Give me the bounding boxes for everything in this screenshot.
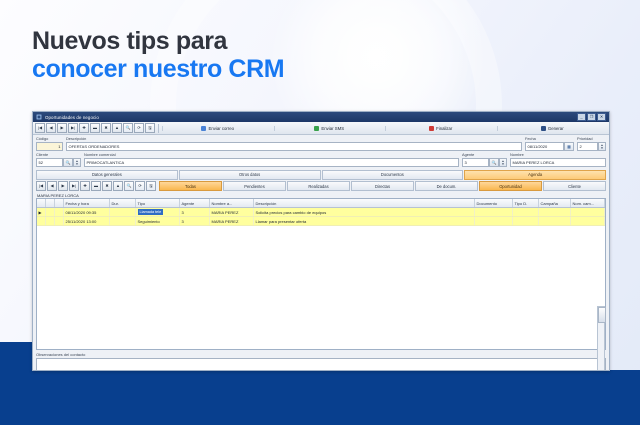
row-documento	[475, 208, 513, 216]
headline-line-1: Nuevos tips para	[32, 27, 284, 55]
agenda-refresh-icon[interactable]: ⟳	[135, 181, 145, 191]
bottom-blue-band	[0, 370, 640, 425]
subtab-pendientes[interactable]: Pendientes	[223, 181, 286, 191]
finish-icon	[429, 126, 434, 131]
grid-col-fecha-y-hora[interactable]: Fecha y hora	[64, 199, 110, 207]
grid-col-dur[interactable]: Dur.	[110, 199, 136, 207]
observaciones-section: Observaciones del contacto	[36, 352, 606, 371]
nav-last-button[interactable]: ▶|	[68, 123, 78, 133]
finalizar-label: Finalizar	[436, 126, 452, 131]
grid-col-flag1[interactable]	[46, 199, 55, 207]
mail-icon	[201, 126, 206, 131]
enviar-correo-label: Enviar correo	[208, 126, 234, 131]
row-tipo-d	[513, 217, 539, 225]
close-button[interactable]: ✕	[597, 113, 606, 121]
field-cliente: Cliente 52 🔍 ▲▼	[36, 153, 81, 167]
main-tab-bar: Datos generales Otros datos Documentos A…	[33, 170, 609, 180]
decorative-corner-block	[0, 342, 34, 372]
nav-next-button[interactable]: ▶	[57, 123, 67, 133]
agenda-grid[interactable]: Fecha y hora Dur. Tipo Agente Nombre a..…	[36, 198, 606, 350]
generate-icon	[541, 126, 546, 131]
grid-col-flag2[interactable]	[55, 199, 64, 207]
agenda-post-button[interactable]: ▲	[113, 181, 123, 191]
agenda-toolbar: |◀ ◀ ▶ ▶| ✚ ▬ ✖ ▲ 🔍 ⟳ 🖫 Todas Pendientes…	[33, 180, 609, 193]
post-record-button[interactable]: ▲	[112, 123, 122, 133]
promo-headline: Nuevos tips para conocer nuestro CRM	[32, 27, 284, 83]
prioridad-input[interactable]: 2	[577, 142, 598, 151]
row-campana	[539, 217, 571, 225]
agenda-nav-first-button[interactable]: |◀	[36, 181, 46, 191]
row-fecha: 08/11/2020 09:35	[64, 208, 110, 216]
subtab-cliente[interactable]: Cliente	[543, 181, 606, 191]
row-nom-cam	[571, 208, 605, 216]
tab-agenda[interactable]: Agenda	[464, 170, 606, 180]
nombre-comercial-input[interactable]: PRIMOCATLANTICA	[84, 158, 459, 167]
nombre-input[interactable]: MARIA PEREZ LORCA	[510, 158, 606, 167]
field-descripcion: Descripción OFERTAS ORDENADORES	[66, 137, 522, 151]
enviar-sms-label: Enviar SMS	[321, 126, 344, 131]
erp-window: Oportunidades de negocio _ ❐ ✕ |◀ ◀ ▶ ▶|…	[32, 111, 610, 371]
row-nom-cam	[571, 217, 605, 225]
tab-otros-datos[interactable]: Otros datos	[179, 170, 321, 180]
grid-empty-area[interactable]	[37, 226, 605, 349]
grid-col-agente[interactable]: Agente	[180, 199, 210, 207]
grid-col-tipo[interactable]: Tipo	[136, 199, 180, 207]
grid-col-documento[interactable]: Documento	[475, 199, 513, 207]
nav-prev-button[interactable]: ◀	[46, 123, 56, 133]
maximize-button[interactable]: ❐	[587, 113, 596, 121]
codigo-input[interactable]: 1	[36, 142, 63, 151]
prioridad-label: Prioridad	[577, 137, 606, 142]
toolbar-divider	[158, 124, 159, 133]
window-titlebar[interactable]: Oportunidades de negocio _ ❐ ✕	[33, 112, 609, 122]
observaciones-label: Observaciones del contacto	[36, 352, 606, 357]
row-dur	[110, 208, 136, 216]
field-agente: Agente 3 🔍 ▲▼	[462, 153, 507, 167]
agenda-filter-tabs: Todas Pendientes Realizadas Directas De …	[159, 181, 606, 191]
cliente-lookup-icon[interactable]: 🔍	[63, 158, 73, 167]
field-nombre-comercial: Nombre comercial PRIMOCATLANTICA	[84, 153, 459, 167]
window-title: Oportunidades de negocio	[45, 115, 99, 120]
descripcion-label: Descripción	[66, 137, 522, 142]
nombre-comercial-label: Nombre comercial	[84, 153, 459, 158]
subtab-realizadas[interactable]: Realizadas	[287, 181, 350, 191]
field-fecha: Fecha 08/11/2020 ▦	[525, 137, 574, 151]
agenda-save-icon[interactable]: 🖫	[146, 181, 156, 191]
window-controls: _ ❐ ✕	[577, 113, 606, 121]
agenda-nav-next-button[interactable]: ▶	[58, 181, 68, 191]
grid-col-descripcion[interactable]: Descripción	[254, 199, 475, 207]
grid-col-tipo-d[interactable]: Tipo D.	[513, 199, 539, 207]
row-flag1[interactable]	[46, 208, 55, 216]
subtab-de-docum[interactable]: De docum.	[415, 181, 478, 191]
table-row[interactable]: 25/11/2020 13:00 Seguimiento 3 MARIA PER…	[37, 217, 605, 226]
toolbar-action-generar[interactable]: Generar	[497, 126, 608, 131]
row-tipo-d	[513, 208, 539, 216]
row-agente: 3	[180, 208, 210, 216]
grid-col-nom-cam[interactable]: Nom. cam...	[571, 199, 605, 207]
row-flag2[interactable]	[55, 217, 64, 225]
form-row-2: Cliente 52 🔍 ▲▼ Nombre comercial PRIMOCA…	[36, 153, 606, 167]
agenda-add-button[interactable]: ✚	[80, 181, 90, 191]
subtab-todas[interactable]: Todas	[159, 181, 222, 191]
cliente-label: Cliente	[36, 153, 81, 158]
save-icon[interactable]: 🖫	[145, 123, 155, 133]
agente-label: Agente	[462, 153, 507, 158]
subtab-directas[interactable]: Directas	[351, 181, 414, 191]
agente-lookup-icon[interactable]: 🔍	[489, 158, 499, 167]
form-row-1: Código 1 Descripción OFERTAS ORDENADORES…	[36, 137, 606, 151]
row-marker-icon: ▶	[37, 208, 46, 216]
search-icon[interactable]: 🔍	[123, 123, 133, 133]
row-tipo: Llamada tele	[136, 208, 180, 216]
grid-col-marker[interactable]	[37, 199, 46, 207]
row-documento	[475, 217, 513, 225]
tab-datos-generales[interactable]: Datos generales	[36, 170, 178, 180]
headline-line-2: conocer nuestro CRM	[32, 55, 284, 83]
promo-slide: Nuevos tips para conocer nuestro CRM Opo…	[0, 0, 640, 425]
nav-first-button[interactable]: |◀	[35, 123, 45, 133]
scrollbar-thumb[interactable]	[598, 307, 606, 323]
nombre-label: Nombre	[510, 153, 606, 158]
header-form: Código 1 Descripción OFERTAS ORDENADORES…	[33, 135, 609, 170]
field-nombre: Nombre MARIA PEREZ LORCA	[510, 153, 606, 167]
refresh-icon[interactable]: ⟳	[134, 123, 144, 133]
grid-col-campana[interactable]: Campaña	[539, 199, 571, 207]
agenda-nav-prev-button[interactable]: ◀	[47, 181, 57, 191]
grid-header-row: Fecha y hora Dur. Tipo Agente Nombre a..…	[37, 199, 605, 208]
row-tipo-chip: Llamada tele	[138, 209, 164, 215]
cliente-stepper[interactable]: ▲▼	[73, 158, 81, 167]
table-row[interactable]: ▶ 08/11/2020 09:35 Llamada tele 3 MARIA …	[37, 208, 605, 217]
cliente-input[interactable]: 52	[36, 158, 63, 167]
minimize-button[interactable]: _	[577, 113, 586, 121]
agenda-search-icon[interactable]: 🔍	[124, 181, 134, 191]
toolbar-action-finalizar[interactable]: Finalizar	[385, 126, 496, 131]
subtab-oportunidad[interactable]: Oportunidad	[479, 181, 542, 191]
row-marker-icon	[37, 217, 46, 225]
fecha-input[interactable]: 08/11/2020	[525, 142, 564, 151]
row-descripcion: Llamar para presentar oferta	[254, 217, 475, 225]
cancel-record-button[interactable]: ✖	[101, 123, 111, 133]
add-record-button[interactable]: ✚	[79, 123, 89, 133]
row-fecha: 25/11/2020 13:00	[64, 217, 110, 225]
tab-documentos[interactable]: Documentos	[322, 170, 464, 180]
sms-icon	[314, 126, 319, 131]
toolbar-action-enviar-correo[interactable]: Enviar correo	[162, 126, 273, 131]
generar-label: Generar	[548, 126, 564, 131]
agente-stepper[interactable]: ▲▼	[499, 158, 507, 167]
row-dur	[110, 217, 136, 225]
agenda-cancel-button[interactable]: ✖	[102, 181, 112, 191]
descripcion-input[interactable]: OFERTAS ORDENADORES	[66, 142, 522, 151]
delete-record-button[interactable]: ▬	[90, 123, 100, 133]
row-agente: 3	[180, 217, 210, 225]
row-nombre: MARIA PEREZ	[210, 208, 254, 216]
grid-col-nombre-a[interactable]: Nombre a...	[210, 199, 254, 207]
row-campana	[539, 208, 571, 216]
row-flag2[interactable]	[55, 208, 64, 216]
grid-vertical-scrollbar[interactable]	[597, 306, 605, 371]
row-descripcion: Solicita precios para cambio de equipos	[254, 208, 475, 216]
codigo-label: Código	[36, 137, 63, 142]
row-flag1[interactable]	[46, 217, 55, 225]
agente-input[interactable]: 3	[462, 158, 489, 167]
calendar-icon[interactable]: ▦	[564, 142, 574, 151]
row-tipo: Seguimiento	[136, 217, 180, 225]
main-toolbar: |◀ ◀ ▶ ▶| ✚ ▬ ✖ ▲ 🔍 ⟳ 🖫 Enviar correo En…	[33, 122, 609, 135]
agenda-delete-button[interactable]: ▬	[91, 181, 101, 191]
fecha-label: Fecha	[525, 137, 574, 142]
agenda-nav-last-button[interactable]: ▶|	[69, 181, 79, 191]
app-icon	[36, 114, 42, 120]
field-codigo: Código 1	[36, 137, 63, 151]
prioridad-stepper[interactable]: ▲▼	[598, 142, 606, 151]
toolbar-action-enviar-sms[interactable]: Enviar SMS	[274, 126, 385, 131]
row-nombre: MARIA PEREZ	[210, 217, 254, 225]
field-prioridad: Prioridad 2 ▲▼	[577, 137, 606, 151]
observaciones-textarea[interactable]	[36, 358, 606, 371]
